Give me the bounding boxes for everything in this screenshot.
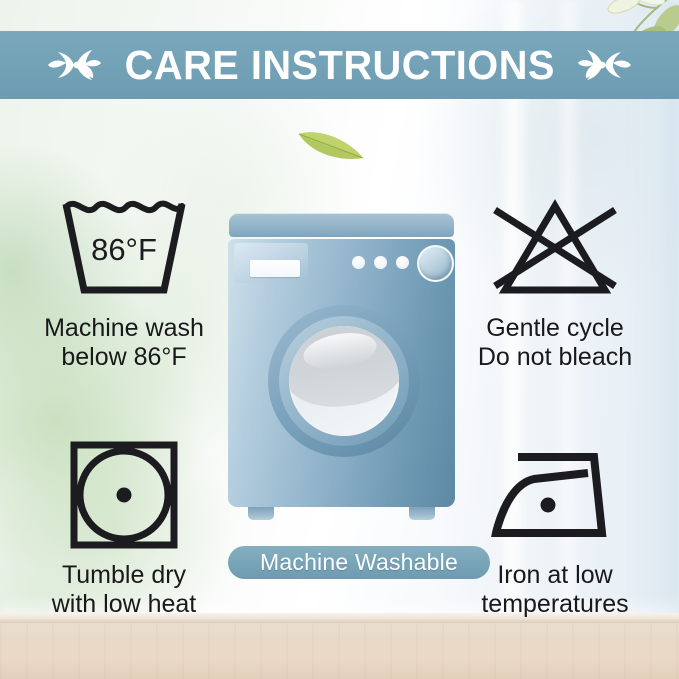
symbol-caption: Machine wash below 86°F — [9, 314, 239, 372]
symbol-caption: Tumble dry with low heat — [9, 561, 239, 619]
page-title: CARE INSTRUCTIONS — [124, 42, 554, 89]
machine-control-panel — [234, 243, 308, 283]
machine-door-glass — [289, 326, 399, 436]
machine-indicator-dot — [352, 256, 365, 269]
machine-program-dial — [417, 245, 454, 282]
symbol-machine-wash: 86°F Machine wash below 86°F — [9, 190, 239, 372]
machine-door-ring — [279, 316, 409, 446]
machine-indicator-dot — [374, 256, 387, 269]
care-instructions-infographic: CARE INSTRUCTIONS — [0, 0, 679, 679]
wash-temperature-value: 86°F — [91, 232, 157, 267]
badge-label: Machine Washable — [260, 549, 458, 576]
iron-icon — [440, 437, 670, 555]
machine-lid — [229, 213, 454, 237]
wooden-table-surface — [0, 623, 679, 679]
fleur-de-lis-icon — [46, 42, 102, 88]
header-banner: CARE INSTRUCTIONS — [0, 31, 679, 99]
machine-display — [250, 260, 300, 277]
symbol-iron-low: Iron at low temperatures — [440, 437, 670, 619]
machine-door — [268, 305, 420, 457]
tumble-dry-square-icon — [9, 437, 239, 555]
triangle-crossed-out-icon — [440, 190, 670, 308]
machine-washable-badge: Machine Washable — [228, 546, 490, 579]
wash-tub-icon: 86°F — [9, 190, 239, 308]
symbol-tumble-dry-low: Tumble dry with low heat — [9, 437, 239, 619]
machine-foot — [248, 507, 274, 520]
symbol-caption: Gentle cycle Do not bleach — [440, 314, 670, 372]
washing-machine-illustration — [228, 213, 455, 525]
machine-indicator-dot — [396, 256, 409, 269]
machine-foot — [409, 507, 435, 520]
fleur-de-lis-icon — [577, 42, 633, 88]
symbol-gentle-cycle-no-bleach: Gentle cycle Do not bleach — [440, 190, 670, 372]
machine-body — [228, 239, 455, 507]
